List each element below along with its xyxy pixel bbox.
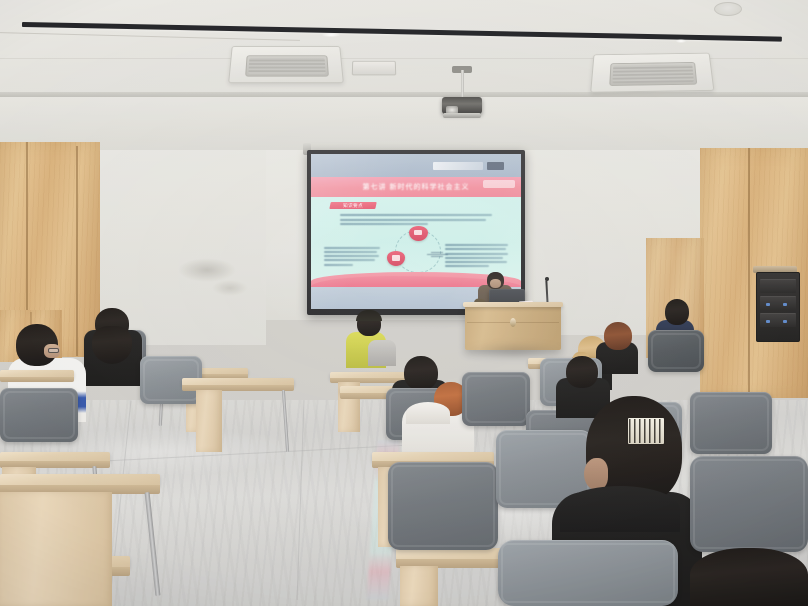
slide-paragraph-1 bbox=[340, 214, 491, 227]
air-vent bbox=[352, 61, 397, 76]
chair-piping bbox=[465, 375, 527, 423]
slide-logo-mark bbox=[487, 162, 504, 171]
ac-grille-icon bbox=[249, 58, 326, 74]
panel-seam bbox=[748, 148, 750, 396]
rack-unit bbox=[760, 279, 797, 293]
panel-seam bbox=[76, 146, 78, 356]
rack-led-icon bbox=[783, 303, 787, 306]
chair-piping bbox=[651, 333, 701, 369]
diagram-node-right bbox=[427, 251, 448, 258]
ac-grille-frame bbox=[609, 62, 698, 86]
ceiling-soffit bbox=[0, 96, 808, 154]
desk-edge bbox=[0, 377, 74, 382]
slide-paragraph-2 bbox=[324, 247, 381, 268]
wall-mark bbox=[212, 280, 248, 296]
slide-badge: 知识要点 bbox=[329, 202, 377, 209]
rack-led-icon bbox=[766, 320, 770, 323]
student-cap bbox=[356, 310, 382, 321]
student-hair bbox=[92, 326, 132, 364]
slide-paragraph-3 bbox=[445, 244, 508, 269]
student-hood bbox=[406, 402, 450, 424]
chair-piping bbox=[693, 395, 769, 451]
student-head bbox=[665, 299, 689, 325]
student-head bbox=[604, 322, 632, 350]
projector bbox=[442, 97, 482, 114]
student-head bbox=[404, 356, 438, 390]
desk-panel bbox=[400, 566, 438, 606]
av-equipment-rack[interactable] bbox=[756, 272, 800, 342]
chair-back[interactable] bbox=[0, 388, 78, 442]
projector-base bbox=[443, 113, 481, 118]
student-head bbox=[690, 548, 808, 606]
ac-grille-icon bbox=[612, 65, 694, 83]
chair-piping bbox=[693, 459, 805, 549]
chair-back[interactable] bbox=[462, 372, 530, 426]
chair-back[interactable] bbox=[498, 540, 678, 606]
ceiling-speaker-icon bbox=[714, 2, 742, 16]
hair-clip bbox=[628, 418, 664, 444]
classroom-photo: 第七讲 新时代的科学社会主义 知识要点 bbox=[0, 0, 808, 606]
light-glint-icon bbox=[676, 39, 686, 43]
student-torso bbox=[368, 340, 396, 366]
student-head bbox=[566, 356, 598, 388]
slide-badge-label: 知识要点 bbox=[330, 202, 376, 209]
slide-corner-tag bbox=[483, 180, 515, 188]
light-glint-icon bbox=[322, 33, 340, 37]
desk-panel bbox=[0, 492, 112, 606]
chair-back[interactable] bbox=[690, 392, 772, 454]
rack-led-icon bbox=[783, 320, 787, 323]
ac-grille-frame bbox=[246, 55, 329, 77]
chair-back[interactable] bbox=[388, 462, 498, 550]
projector-rod bbox=[461, 70, 464, 98]
student-hood bbox=[560, 486, 680, 532]
chair-piping bbox=[501, 543, 675, 603]
lectern-shadow bbox=[462, 344, 567, 358]
ac-cassette-right bbox=[590, 53, 714, 93]
presenter-face bbox=[490, 279, 501, 288]
eyeglasses-icon bbox=[48, 348, 59, 353]
rack-led-icon bbox=[766, 303, 770, 306]
slide-logo bbox=[433, 162, 483, 170]
diagram-node-top bbox=[409, 226, 428, 240]
chair-back[interactable] bbox=[690, 456, 808, 552]
chair-piping bbox=[391, 465, 495, 547]
chair-back[interactable] bbox=[648, 330, 704, 372]
student-face bbox=[584, 458, 608, 490]
lectern-top bbox=[463, 302, 563, 307]
chair-piping bbox=[3, 391, 75, 439]
wall-mark bbox=[178, 258, 236, 282]
ac-cassette-left bbox=[228, 46, 344, 83]
desk-panel bbox=[196, 390, 222, 452]
lectern-knob-icon bbox=[510, 318, 516, 327]
ceiling-step-edge bbox=[0, 92, 808, 97]
